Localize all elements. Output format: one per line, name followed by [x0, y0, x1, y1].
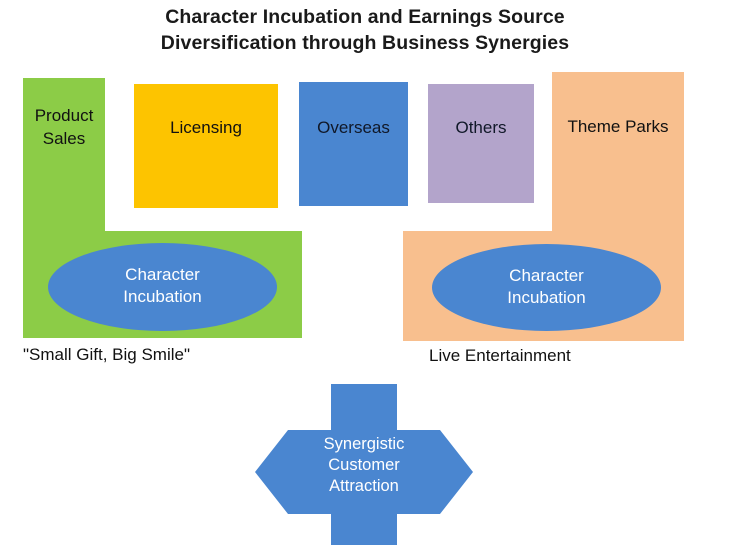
ellipse-left-line-1: Character: [125, 265, 200, 284]
ellipse-left-line-2: Incubation: [123, 287, 201, 306]
diagram-canvas: Character Incubation and Earnings Source…: [0, 0, 730, 545]
ellipse-right-line-2: Incubation: [507, 288, 585, 307]
ellipse-character-incubation-left-label: Character Incubation: [123, 264, 201, 310]
segment-product-sales-label-line-1: Product: [35, 106, 94, 125]
segment-others[interactable]: Others: [428, 84, 534, 203]
ellipse-character-incubation-right-label: Character Incubation: [507, 265, 585, 311]
segment-licensing[interactable]: Licensing: [134, 84, 278, 208]
ellipse-character-incubation-left[interactable]: Character Incubation: [48, 243, 277, 331]
segment-product-sales-label: Product Sales: [23, 104, 105, 150]
segment-theme-parks[interactable]: Theme Parks: [552, 72, 684, 237]
caption-live-entertainment: Live Entertainment: [429, 345, 571, 367]
page-title-line-2: Diversification through Business Synergi…: [0, 30, 730, 56]
ellipse-right-line-1: Character: [509, 266, 584, 285]
segment-theme-parks-label: Theme Parks: [552, 116, 684, 137]
double-arrow-icon: [255, 384, 473, 545]
segment-licensing-label: Licensing: [134, 117, 278, 138]
page-title-line-1: Character Incubation and Earnings Source: [0, 4, 730, 30]
synergistic-customer-attraction-arrow[interactable]: Synergistic Customer Attraction: [255, 384, 473, 545]
segment-product-sales-label-line-2: Sales: [43, 129, 86, 148]
caption-small-gift-big-smile: "Small Gift, Big Smile": [23, 344, 190, 366]
segment-others-label: Others: [428, 117, 534, 138]
page-title: Character Incubation and Earnings Source…: [0, 4, 730, 56]
ellipse-character-incubation-right[interactable]: Character Incubation: [432, 244, 661, 331]
segment-overseas-label: Overseas: [299, 117, 408, 138]
segment-overseas[interactable]: Overseas: [299, 82, 408, 206]
segment-product-sales[interactable]: Product Sales: [23, 78, 105, 238]
